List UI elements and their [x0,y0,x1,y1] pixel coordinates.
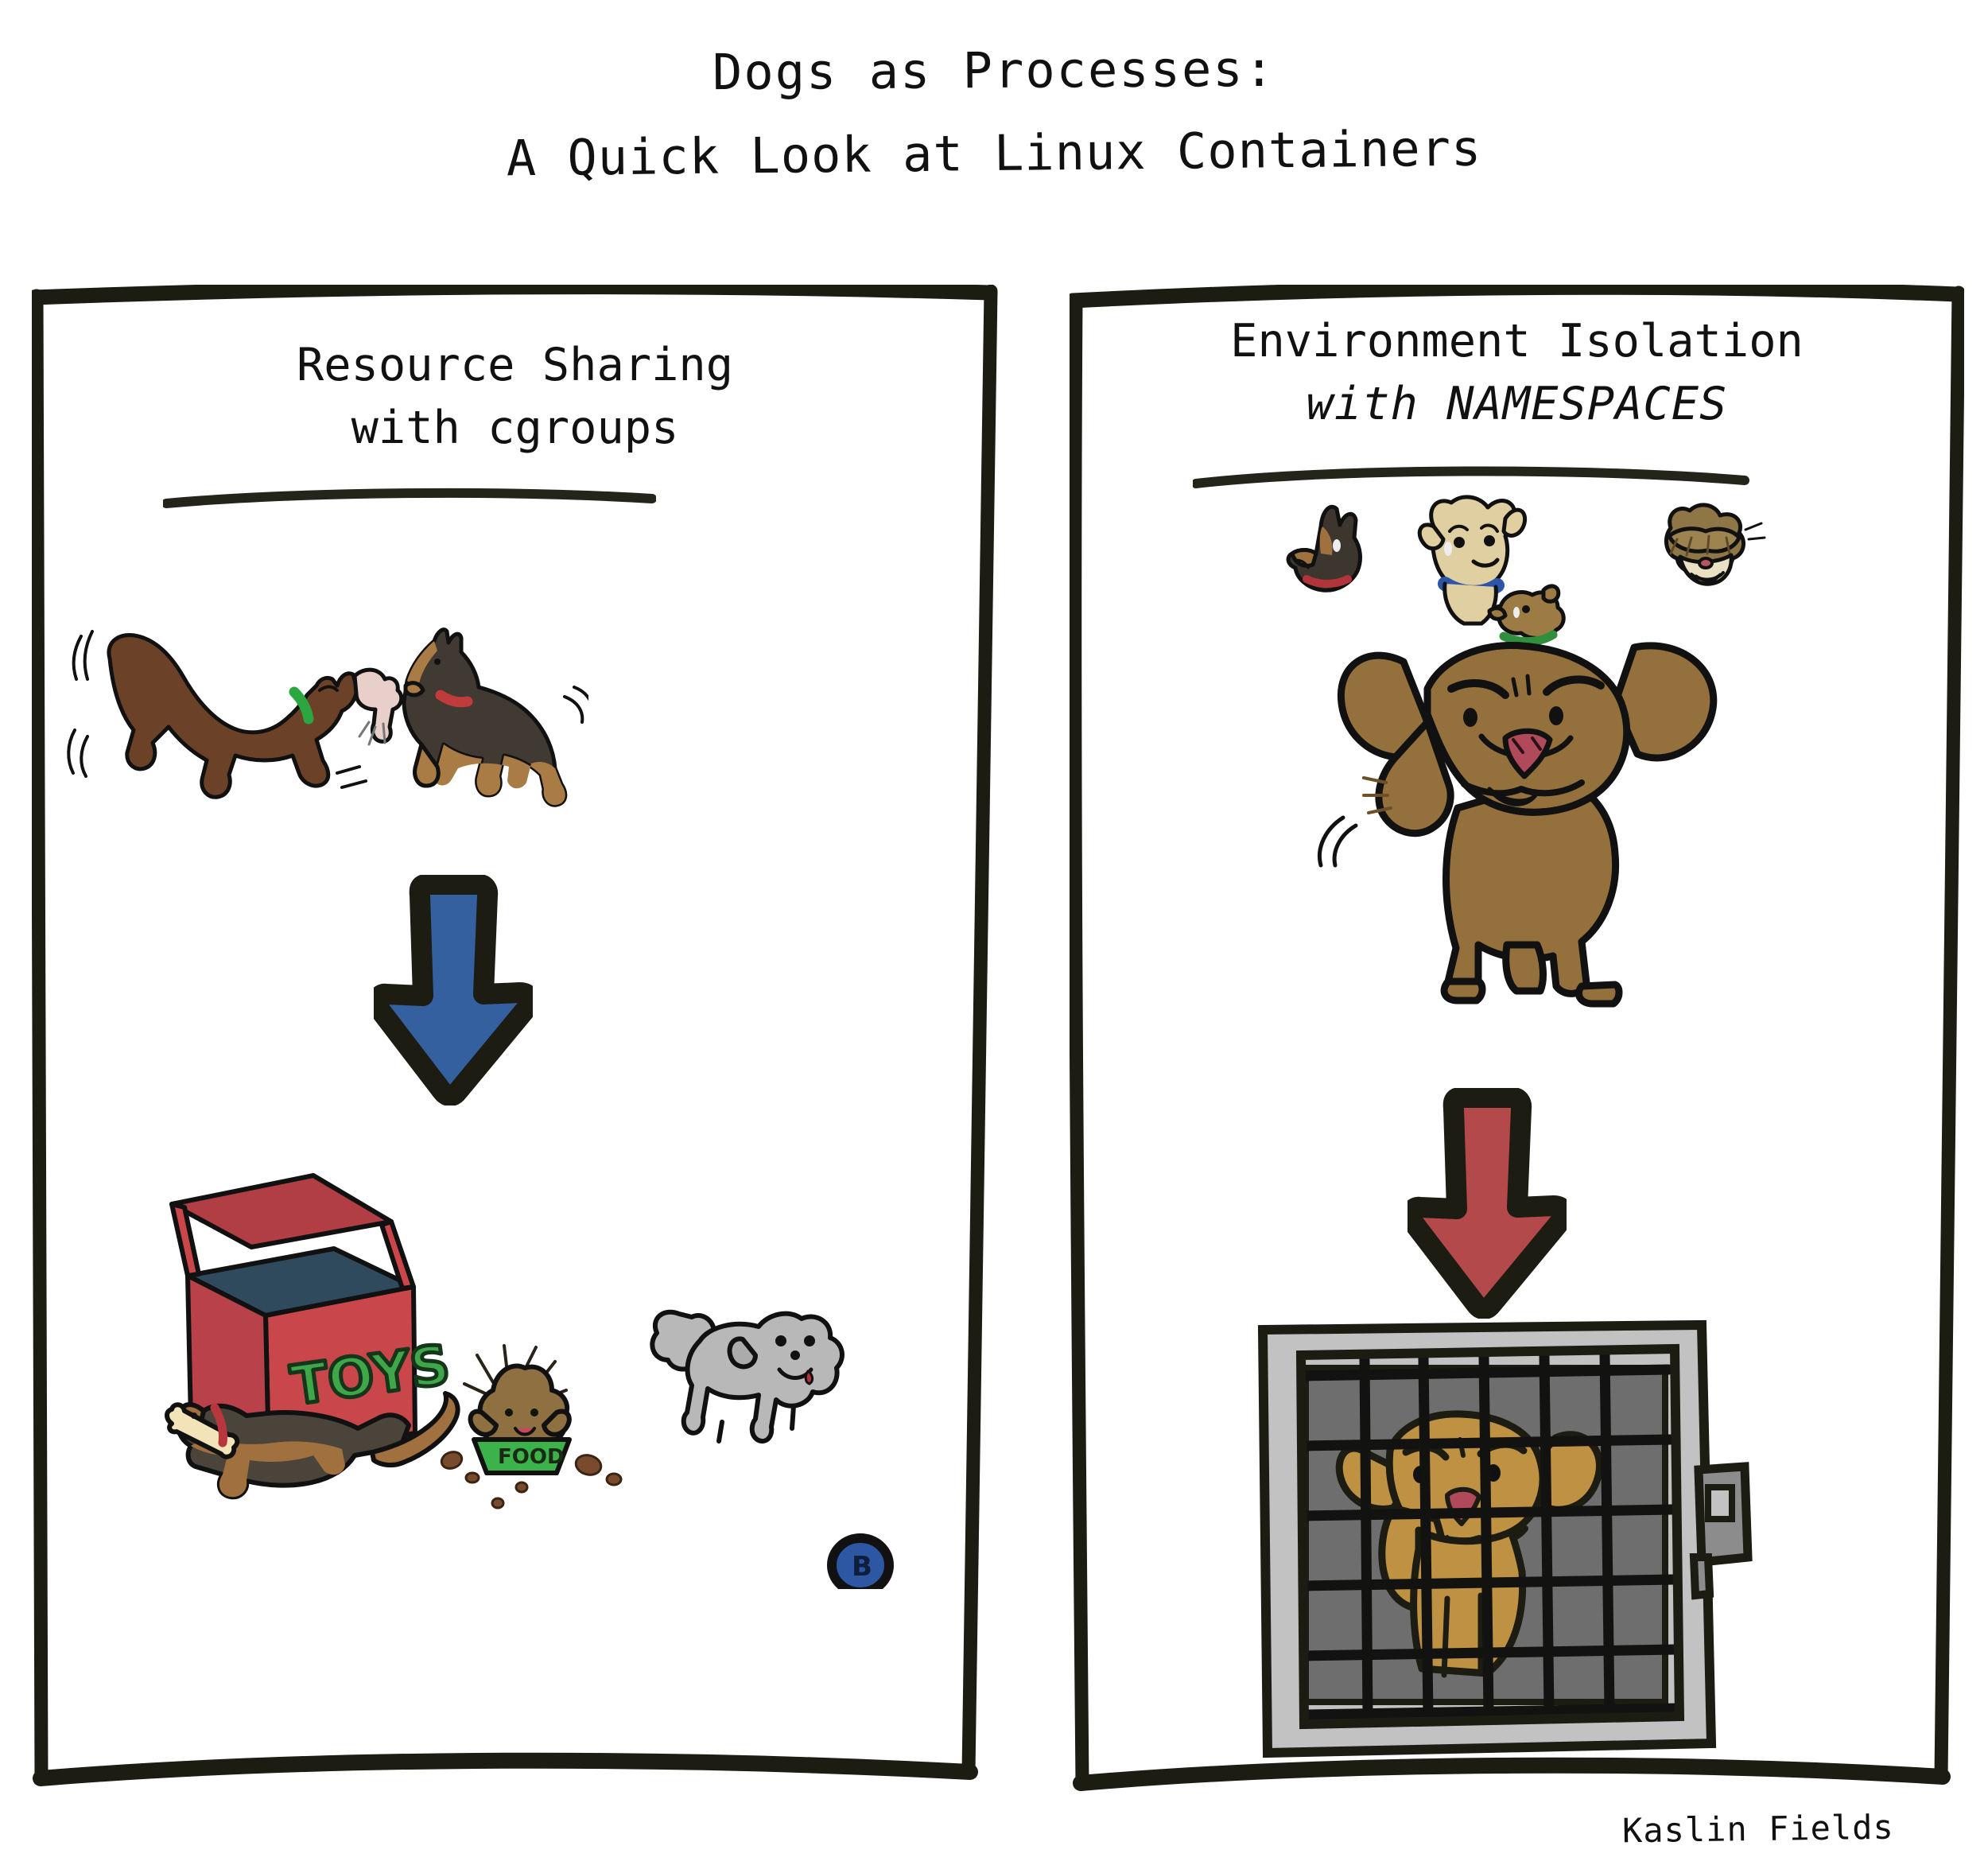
panel-border [1070,285,1964,1792]
cream-dog-head [1419,497,1524,624]
heading-line-2: with cgroups [32,397,998,460]
panel-heading-environment-isolation: Environment Isolation with NAMESPACES [1070,310,1964,435]
crate-bars-vertical [1365,1354,1609,1716]
heading-line-2: with NAMESPACES [1070,373,1964,436]
crate-bars-horizontal [1304,1370,1676,1715]
onlooker-dog-heads [1284,492,1777,651]
ball-label: B [852,1551,872,1583]
angry-brown-dog [1308,627,1801,1008]
crate-latch-icon [1694,1467,1748,1595]
heading-line-1: Environment Isolation [1070,310,1964,373]
toy-box-label: TOYS [287,1334,453,1418]
author-signature: Kaslin Fields [1622,1808,1894,1851]
heading-underline [163,488,656,510]
blue-ball-icon [832,1538,889,1589]
panel-heading-resource-sharing: Resource Sharing with cgroups [32,334,998,459]
food-bowl-label: FOOD [498,1445,565,1469]
small-tan-puppy-head [1489,586,1563,642]
shaggy-dog-head [1666,505,1765,584]
heading-underline [1193,466,1749,488]
down-arrow-icon-red [1408,1088,1567,1319]
page-title-block: Dogs as Processes: A Quick Look at Linux… [0,46,1988,182]
doberman-head [1288,507,1360,590]
panel-environment-isolation: Environment Isolation with NAMESPACES [1070,285,1964,1792]
down-arrow-icon-blue [374,875,533,1105]
page-title: Dogs as Processes: [0,40,1988,101]
scene-shared-resources: TOYS [95,1128,938,1589]
panel-border [32,285,998,1788]
scene-two-dogs-tug-of-war [64,603,588,841]
dog-crate [1248,1319,1757,1764]
heading-line-1: Resource Sharing [32,334,998,397]
page-subtitle: A Quick Look at Linux Containers [0,114,1988,192]
panel-resource-sharing: Resource Sharing with cgroups [32,285,998,1788]
